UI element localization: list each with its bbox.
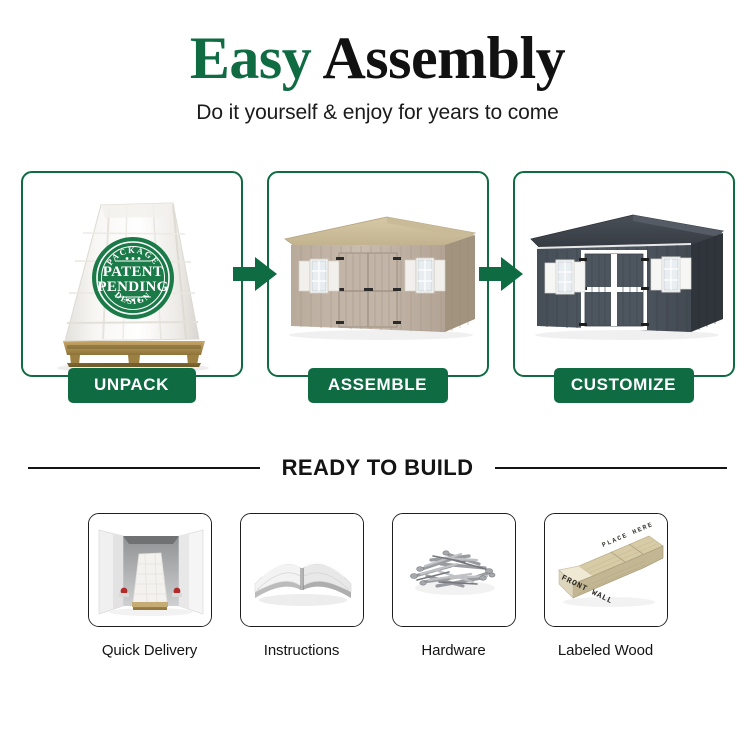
step-unpack-card: PACKAGE DESIGN PATENT PENDING xyxy=(21,171,243,377)
feature-labeled-wood[interactable]: PLACE HERE FRONT WALL Labeled Wood xyxy=(544,513,668,659)
steps-row: PACKAGE DESIGN PATENT PENDING xyxy=(0,171,755,403)
header: Easy Assembly Do it yourself & enjoy for… xyxy=(0,0,755,125)
step-assemble-label: ASSEMBLE xyxy=(308,368,448,403)
page-title: Easy Assembly xyxy=(0,26,755,90)
arrow-right-icon-2 xyxy=(479,257,523,291)
arrow-right-icon-1 xyxy=(233,257,277,291)
step-customize[interactable]: CUSTOMIZE xyxy=(513,171,735,403)
divider-rule-left xyxy=(28,467,260,469)
patent-pending-badge: PACKAGE DESIGN PATENT PENDING xyxy=(92,237,174,319)
feature-quick-delivery[interactable]: Quick Delivery xyxy=(88,513,212,659)
delivery-truck-pallet-image xyxy=(89,514,212,627)
nails-pile-image xyxy=(393,514,516,627)
open-book-image xyxy=(241,514,364,627)
feature-hardware-card xyxy=(392,513,516,627)
feature-hardware-label: Hardware xyxy=(392,642,516,659)
page-title-accent: Easy xyxy=(190,25,311,91)
easy-assembly-infographic: Easy Assembly Do it yourself & enjoy for… xyxy=(0,0,755,755)
svg-text:PENDING: PENDING xyxy=(97,279,168,295)
divider-rule-right xyxy=(495,467,727,469)
step-assemble[interactable]: ASSEMBLE xyxy=(267,171,489,403)
unfinished-shed-image xyxy=(269,173,487,375)
feature-instructions[interactable]: Instructions xyxy=(240,513,364,659)
features-row: Quick Delivery xyxy=(0,513,755,659)
step-customize-label: CUSTOMIZE xyxy=(554,368,694,403)
step-customize-card xyxy=(513,171,735,377)
feature-instructions-card xyxy=(240,513,364,627)
painted-shed-image xyxy=(515,173,733,375)
section-heading: READY TO BUILD xyxy=(282,455,474,481)
labeled-lumber-image: PLACE HERE FRONT WALL xyxy=(545,514,668,627)
feature-hardware[interactable]: Hardware xyxy=(392,513,516,659)
page-subtitle: Do it yourself & enjoy for years to come xyxy=(0,101,755,125)
svg-text:PATENT: PATENT xyxy=(102,264,162,280)
page-title-rest: Assembly xyxy=(322,25,565,91)
step-assemble-card xyxy=(267,171,489,377)
step-unpack[interactable]: PACKAGE DESIGN PATENT PENDING xyxy=(21,171,243,403)
step-unpack-label: UNPACK xyxy=(68,368,196,403)
feature-labeled-wood-label: Labeled Wood xyxy=(544,642,668,659)
wrapped-pallet-image: PACKAGE DESIGN PATENT PENDING xyxy=(23,173,241,375)
feature-instructions-label: Instructions xyxy=(240,642,364,659)
feature-quick-delivery-card xyxy=(88,513,212,627)
feature-labeled-wood-card: PLACE HERE FRONT WALL xyxy=(544,513,668,627)
feature-quick-delivery-label: Quick Delivery xyxy=(88,642,212,659)
ready-to-build-divider: READY TO BUILD xyxy=(0,455,755,481)
